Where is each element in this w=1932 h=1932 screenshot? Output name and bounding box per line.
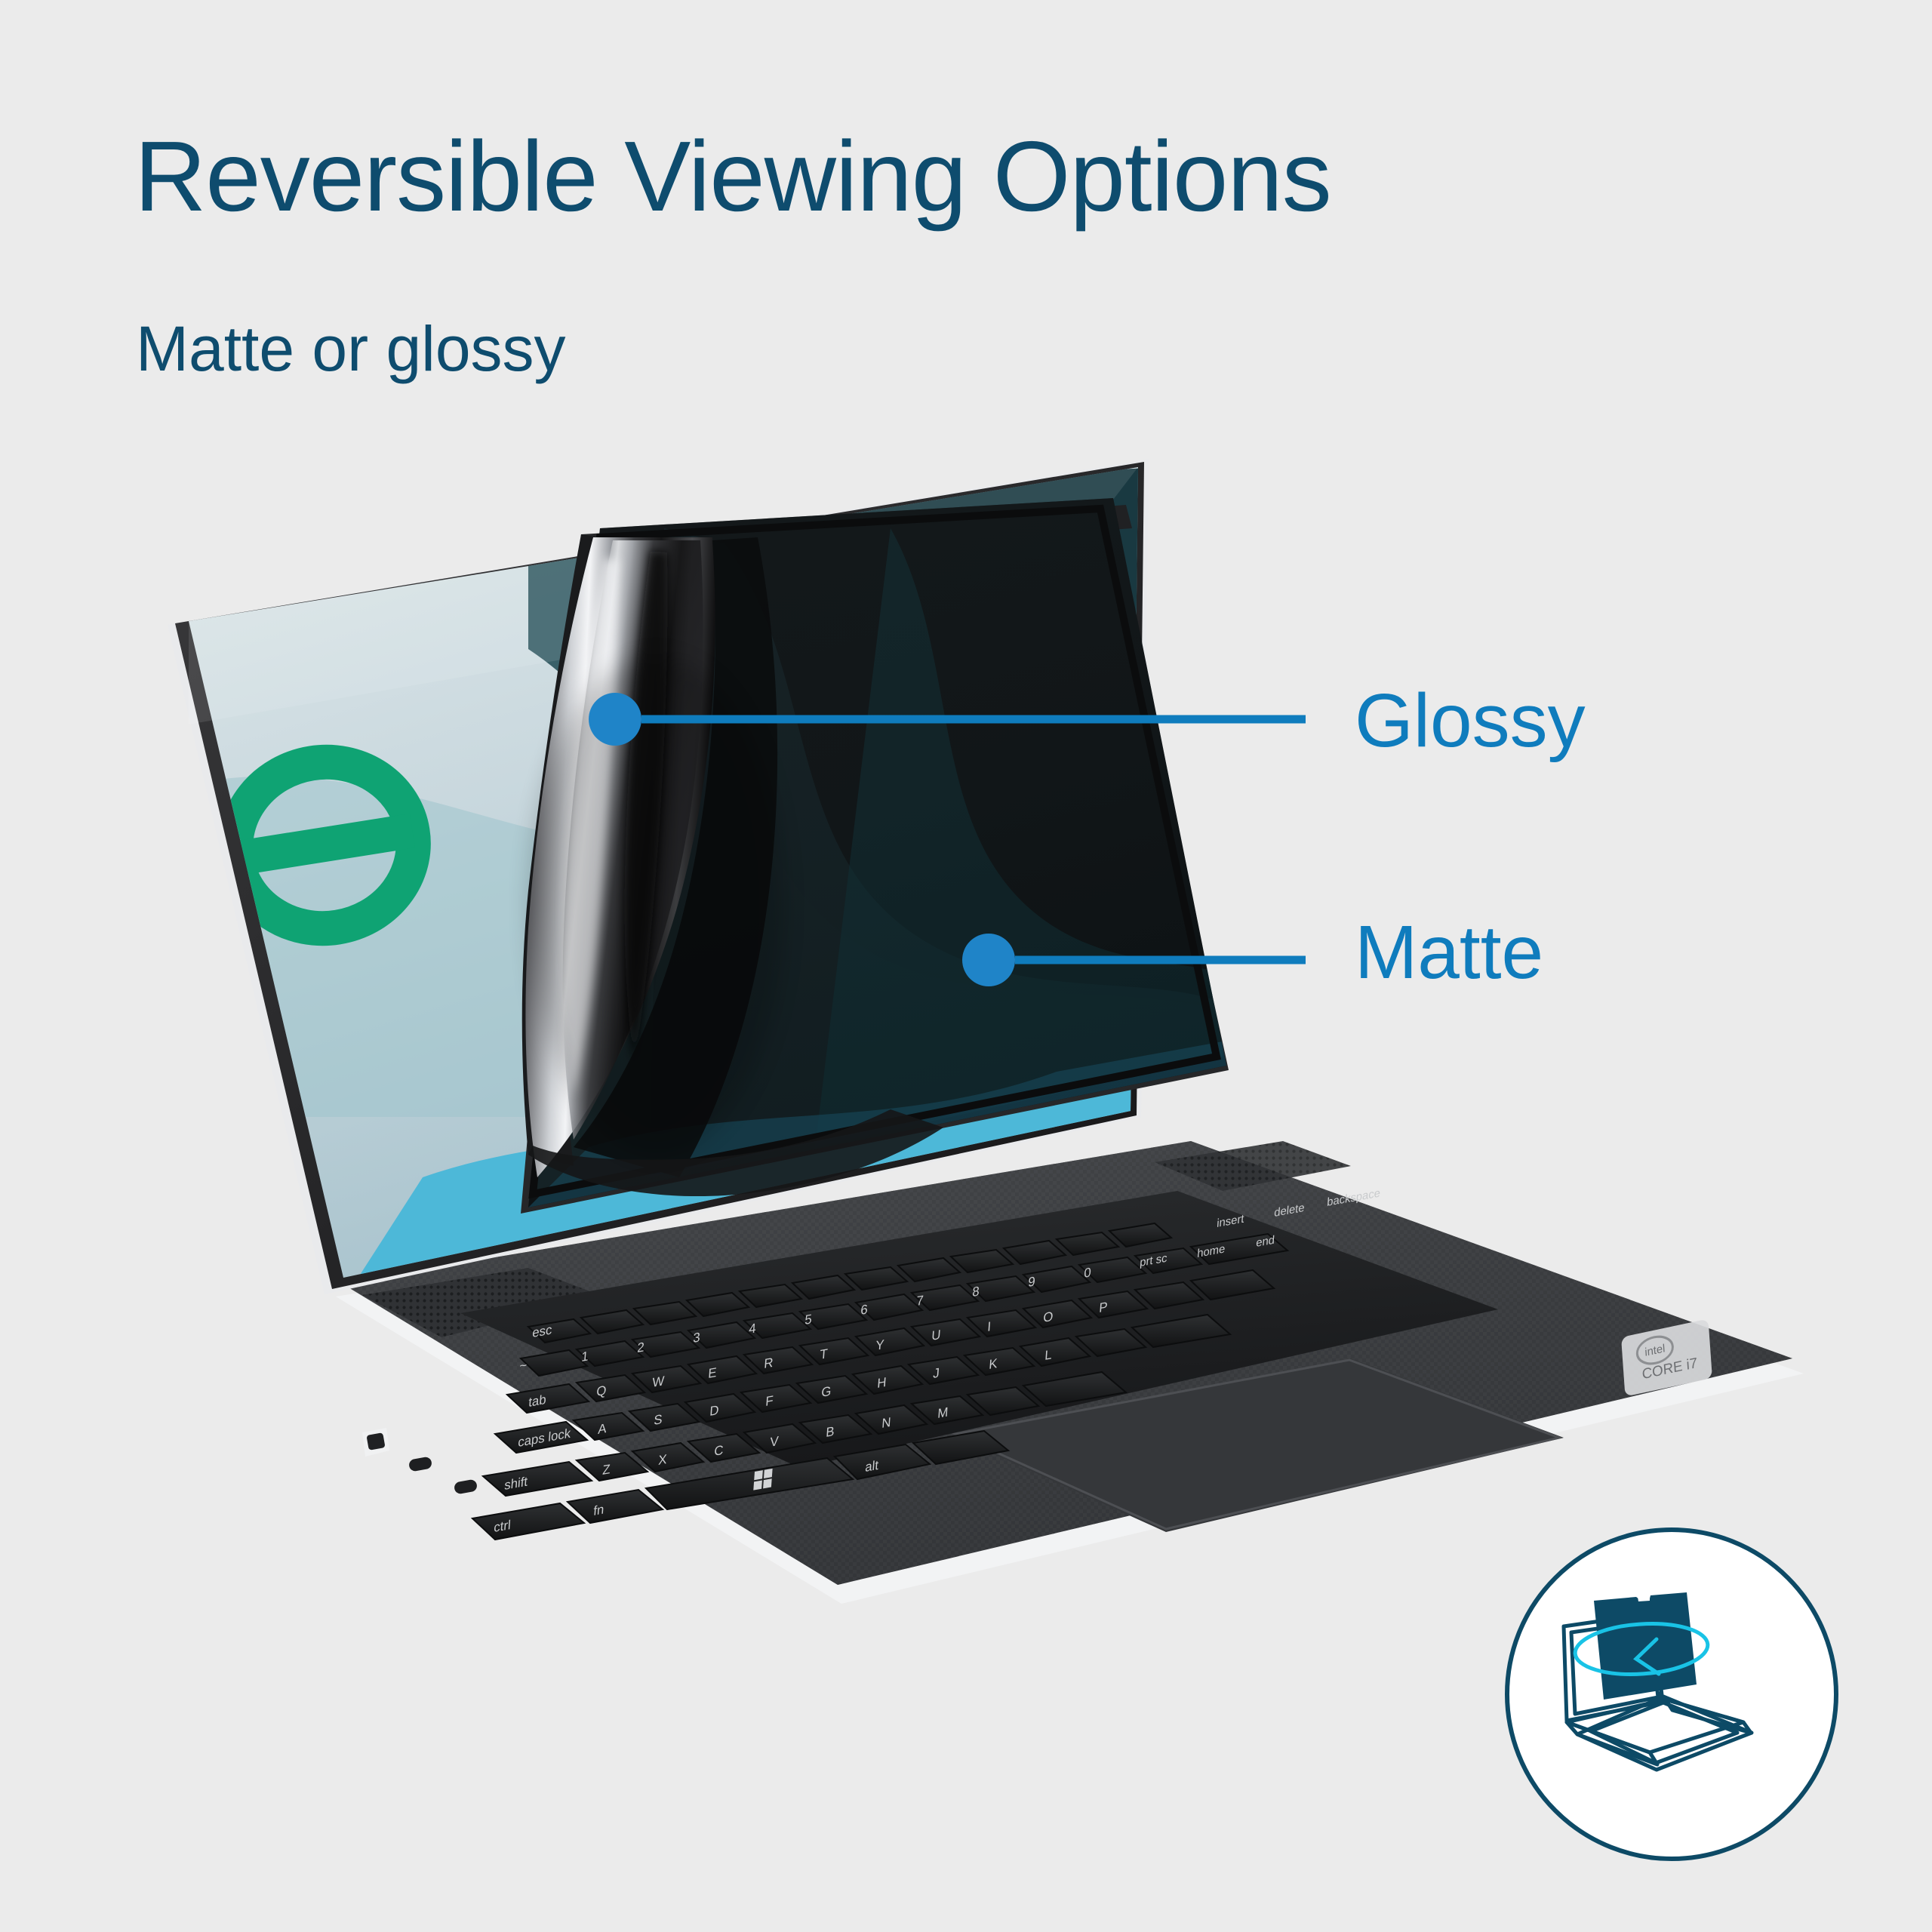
callout-dot-matte [962, 934, 1015, 986]
svg-text:X: X [658, 1451, 668, 1468]
badge-circle [1507, 1530, 1836, 1859]
svg-text:E: E [708, 1364, 718, 1381]
svg-text:fn: fn [593, 1501, 605, 1518]
svg-text:9: 9 [1028, 1273, 1036, 1290]
callout-dot-glossy [589, 693, 641, 746]
svg-text:8: 8 [972, 1283, 980, 1300]
callout-label-glossy: Glossy [1355, 683, 1586, 758]
svg-text:S: S [654, 1411, 663, 1428]
svg-text:U: U [931, 1327, 942, 1343]
reversible-privacy-screen-icon [1502, 1524, 1841, 1864]
svg-text:A: A [598, 1420, 608, 1437]
svg-text:V: V [770, 1433, 780, 1450]
svg-text:7: 7 [916, 1292, 924, 1309]
svg-text:W: W [652, 1373, 666, 1390]
svg-text:Q: Q [596, 1383, 607, 1400]
svg-text:O: O [1043, 1309, 1054, 1326]
svg-text:2: 2 [637, 1339, 645, 1355]
svg-text:Z: Z [602, 1461, 611, 1478]
svg-text:Y: Y [875, 1337, 885, 1353]
svg-text:0: 0 [1084, 1264, 1092, 1281]
svg-text:K: K [989, 1355, 998, 1372]
svg-text:T: T [820, 1346, 829, 1362]
poster-canvas: Reversible Viewing Options Matte or glos… [0, 0, 1932, 1932]
svg-text:M: M [937, 1404, 949, 1421]
svg-text:alt: alt [865, 1457, 879, 1475]
svg-text:N: N [881, 1414, 892, 1431]
svg-text:F: F [765, 1392, 774, 1409]
callout-label-matte: Matte [1355, 915, 1543, 990]
svg-text:J: J [933, 1364, 940, 1381]
svg-text:~: ~ [519, 1357, 528, 1374]
svg-text:6: 6 [860, 1301, 869, 1318]
svg-text:C: C [714, 1442, 724, 1459]
svg-text:ctrl: ctrl [494, 1517, 512, 1535]
svg-text:G: G [821, 1383, 832, 1401]
svg-text:P: P [1099, 1299, 1109, 1315]
svg-text:H: H [877, 1374, 888, 1391]
usb-c-ports [362, 1428, 478, 1494]
svg-text:3: 3 [693, 1329, 701, 1346]
svg-text:R: R [764, 1355, 774, 1371]
svg-text:1: 1 [581, 1348, 589, 1364]
svg-text:5: 5 [804, 1311, 813, 1327]
svg-text:B: B [826, 1423, 835, 1440]
svg-text:D: D [709, 1402, 720, 1419]
